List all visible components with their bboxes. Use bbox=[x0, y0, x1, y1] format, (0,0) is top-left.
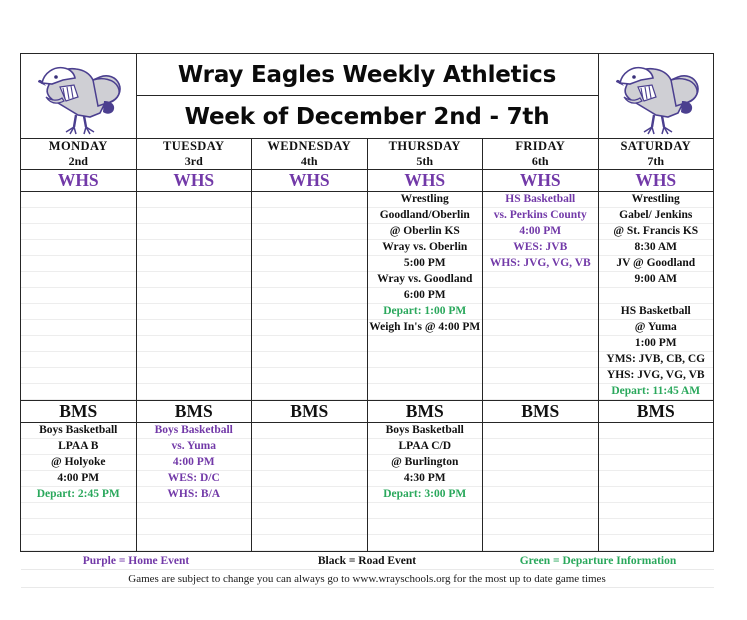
event-line: 8:30 AM bbox=[599, 240, 714, 256]
event-line: Depart: 2:45 PM bbox=[21, 487, 136, 503]
logo-cell-right bbox=[598, 54, 714, 139]
event-line: JV @ Goodland bbox=[599, 256, 714, 272]
empty-line bbox=[21, 208, 136, 224]
empty-line bbox=[599, 423, 714, 439]
empty-line bbox=[252, 368, 367, 384]
cell-whs-tuesday[interactable] bbox=[136, 192, 252, 401]
empty-line bbox=[21, 288, 136, 304]
event-line: Depart: 3:00 PM bbox=[368, 487, 483, 503]
day-header-wednesday: WEDNESDAY bbox=[252, 139, 368, 155]
empty-line bbox=[137, 519, 252, 535]
empty-line bbox=[483, 320, 598, 336]
empty-line bbox=[368, 336, 483, 352]
empty-line bbox=[137, 384, 252, 400]
day-date-thursday: 5th bbox=[367, 154, 483, 170]
empty-line bbox=[599, 519, 714, 535]
event-line: Wray vs. Goodland bbox=[368, 272, 483, 288]
page-title: Wray Eagles Weekly Athletics bbox=[136, 54, 598, 96]
empty-line bbox=[483, 535, 598, 551]
footnote-row: Games are subject to change you can alwa… bbox=[21, 570, 714, 588]
event-list bbox=[483, 423, 598, 551]
day-name-row: MONDAYTUESDAYWEDNESDAYTHURSDAYFRIDAYSATU… bbox=[21, 139, 714, 155]
athletics-schedule-sheet: Wray Eagles Weekly Athletics Week of Dec… bbox=[20, 53, 713, 588]
event-line: Boys Basketball bbox=[368, 423, 483, 439]
empty-line bbox=[483, 384, 598, 400]
empty-line bbox=[252, 471, 367, 487]
wray-eagle-logo-icon bbox=[608, 57, 704, 135]
event-line: 1:00 PM bbox=[599, 336, 714, 352]
empty-line bbox=[483, 272, 598, 288]
empty-line bbox=[483, 352, 598, 368]
empty-line bbox=[599, 535, 714, 551]
event-list: WrestlingGabel/ Jenkins@ St. Francis KS8… bbox=[599, 192, 714, 400]
empty-line bbox=[137, 272, 252, 288]
section-label-whs-friday: WHS bbox=[483, 170, 599, 192]
legend-item-purple: Purple = Home Event bbox=[21, 552, 252, 570]
page-subtitle: Week of December 2nd - 7th bbox=[136, 96, 598, 139]
empty-line bbox=[368, 352, 483, 368]
empty-line bbox=[137, 224, 252, 240]
event-line: WHS: B/A bbox=[137, 487, 252, 503]
section-label-bms-thursday: BMS bbox=[367, 401, 483, 423]
event-line: HS Basketball bbox=[483, 192, 598, 208]
legend-row: Purple = Home EventBlack = Road EventGre… bbox=[21, 552, 714, 570]
empty-line bbox=[21, 320, 136, 336]
empty-line bbox=[21, 503, 136, 519]
event-line: YHS: JVG, VG, VB bbox=[599, 368, 714, 384]
cell-whs-saturday[interactable]: WrestlingGabel/ Jenkins@ St. Francis KS8… bbox=[598, 192, 714, 401]
event-line: vs. Perkins County bbox=[483, 208, 598, 224]
section-label-bms-saturday: BMS bbox=[598, 401, 714, 423]
section-label-whs-tuesday: WHS bbox=[136, 170, 252, 192]
cell-bms-wednesday[interactable] bbox=[252, 423, 368, 552]
event-line: Depart: 11:45 AM bbox=[599, 384, 714, 400]
empty-line bbox=[483, 455, 598, 471]
empty-line bbox=[21, 240, 136, 256]
empty-line bbox=[137, 208, 252, 224]
event-list: Boys BasketballLPAA C/D@ Burlington4:30 … bbox=[368, 423, 483, 551]
section-label-bms-wednesday: BMS bbox=[252, 401, 368, 423]
event-line: Boys Basketball bbox=[137, 423, 252, 439]
event-line: Wrestling bbox=[599, 192, 714, 208]
empty-line bbox=[137, 240, 252, 256]
empty-line bbox=[137, 320, 252, 336]
empty-line bbox=[252, 304, 367, 320]
event-line: @ St. Francis KS bbox=[599, 224, 714, 240]
event-line: vs. Yuma bbox=[137, 439, 252, 455]
empty-line bbox=[368, 384, 483, 400]
event-line: @ Yuma bbox=[599, 320, 714, 336]
event-line: WHS: JVG, VG, VB bbox=[483, 256, 598, 272]
empty-line bbox=[252, 352, 367, 368]
cell-whs-thursday[interactable]: WrestlingGoodland/Oberlin@ Oberlin KSWra… bbox=[367, 192, 483, 401]
empty-line bbox=[252, 384, 367, 400]
day-date-monday: 2nd bbox=[21, 154, 137, 170]
empty-line bbox=[252, 423, 367, 439]
empty-line bbox=[137, 288, 252, 304]
cell-bms-tuesday[interactable]: Boys Basketballvs. Yuma4:00 PMWES: D/CWH… bbox=[136, 423, 252, 552]
event-list: WrestlingGoodland/Oberlin@ Oberlin KSWra… bbox=[368, 192, 483, 400]
empty-line bbox=[368, 503, 483, 519]
event-line: Boys Basketball bbox=[21, 423, 136, 439]
empty-line bbox=[252, 455, 367, 471]
event-line: Gabel/ Jenkins bbox=[599, 208, 714, 224]
empty-line bbox=[483, 487, 598, 503]
cell-bms-saturday[interactable] bbox=[598, 423, 714, 552]
day-header-monday: MONDAY bbox=[21, 139, 137, 155]
event-list bbox=[252, 192, 367, 400]
empty-line bbox=[21, 535, 136, 551]
empty-line bbox=[252, 272, 367, 288]
event-line: YMS: JVB, CB, CG bbox=[599, 352, 714, 368]
section-header-row-whs: WHSWHSWHSWHSWHSWHS bbox=[21, 170, 714, 192]
empty-line bbox=[483, 439, 598, 455]
empty-line bbox=[21, 519, 136, 535]
section-label-whs-thursday: WHS bbox=[367, 170, 483, 192]
day-date-tuesday: 3rd bbox=[136, 154, 252, 170]
event-line: Goodland/Oberlin bbox=[368, 208, 483, 224]
empty-line bbox=[252, 224, 367, 240]
empty-line bbox=[599, 487, 714, 503]
empty-line bbox=[252, 256, 367, 272]
empty-line bbox=[252, 535, 367, 551]
day-header-saturday: SATURDAY bbox=[598, 139, 714, 155]
empty-line bbox=[21, 384, 136, 400]
empty-line bbox=[483, 336, 598, 352]
empty-line bbox=[599, 503, 714, 519]
event-line: 4:00 PM bbox=[137, 455, 252, 471]
event-line: 4:00 PM bbox=[483, 224, 598, 240]
section-body-row-bms: Boys BasketballLPAA B@ Holyoke4:00 PMDep… bbox=[21, 423, 714, 552]
event-line: LPAA B bbox=[21, 439, 136, 455]
empty-line bbox=[137, 368, 252, 384]
empty-line bbox=[21, 304, 136, 320]
event-line: Wrestling bbox=[368, 192, 483, 208]
empty-line bbox=[368, 535, 483, 551]
event-line: @ Oberlin KS bbox=[368, 224, 483, 240]
empty-line bbox=[252, 288, 367, 304]
event-line: 5:00 PM bbox=[368, 256, 483, 272]
event-line: @ Holyoke bbox=[21, 455, 136, 471]
empty-line bbox=[21, 256, 136, 272]
empty-line bbox=[21, 352, 136, 368]
empty-line bbox=[137, 352, 252, 368]
day-date-saturday: 7th bbox=[598, 154, 714, 170]
schedule-page: Wray Eagles Weekly Athletics Week of Dec… bbox=[0, 0, 747, 620]
event-line: 4:00 PM bbox=[21, 471, 136, 487]
event-line: 6:00 PM bbox=[368, 288, 483, 304]
empty-line bbox=[137, 304, 252, 320]
footnote-text: Games are subject to change you can alwa… bbox=[21, 570, 714, 588]
empty-line bbox=[599, 471, 714, 487]
wray-eagle-logo-icon bbox=[30, 57, 126, 135]
empty-line bbox=[599, 288, 714, 304]
event-list bbox=[599, 423, 714, 551]
empty-line bbox=[137, 336, 252, 352]
section-label-bms-friday: BMS bbox=[483, 401, 599, 423]
empty-line bbox=[21, 272, 136, 288]
empty-line bbox=[483, 423, 598, 439]
empty-line bbox=[252, 503, 367, 519]
day-date-friday: 6th bbox=[483, 154, 599, 170]
empty-line bbox=[252, 487, 367, 503]
empty-line bbox=[368, 368, 483, 384]
cell-whs-friday[interactable]: HS Basketballvs. Perkins County4:00 PMWE… bbox=[483, 192, 599, 401]
empty-line bbox=[137, 535, 252, 551]
cell-bms-thursday[interactable]: Boys BasketballLPAA C/D@ Burlington4:30 … bbox=[367, 423, 483, 552]
legend-item-black: Black = Road Event bbox=[252, 552, 483, 570]
empty-line bbox=[252, 439, 367, 455]
section-label-whs-saturday: WHS bbox=[598, 170, 714, 192]
empty-line bbox=[483, 304, 598, 320]
header-row: Wray Eagles Weekly Athletics bbox=[21, 54, 714, 96]
empty-line bbox=[21, 192, 136, 208]
day-header-friday: FRIDAY bbox=[483, 139, 599, 155]
empty-line bbox=[483, 288, 598, 304]
event-list: Boys Basketballvs. Yuma4:00 PMWES: D/CWH… bbox=[137, 423, 252, 551]
empty-line bbox=[368, 519, 483, 535]
empty-line bbox=[483, 503, 598, 519]
section-label-whs-monday: WHS bbox=[21, 170, 137, 192]
section-header-row-bms: BMSBMSBMSBMSBMSBMS bbox=[21, 401, 714, 423]
empty-line bbox=[599, 455, 714, 471]
event-list bbox=[137, 192, 252, 400]
event-line: Depart: 1:00 PM bbox=[368, 304, 483, 320]
empty-line bbox=[21, 368, 136, 384]
empty-line bbox=[252, 192, 367, 208]
cell-whs-wednesday[interactable] bbox=[252, 192, 368, 401]
cell-bms-friday[interactable] bbox=[483, 423, 599, 552]
cell-bms-monday[interactable]: Boys BasketballLPAA B@ Holyoke4:00 PMDep… bbox=[21, 423, 137, 552]
empty-line bbox=[252, 208, 367, 224]
day-header-tuesday: TUESDAY bbox=[136, 139, 252, 155]
day-header-thursday: THURSDAY bbox=[367, 139, 483, 155]
empty-line bbox=[483, 471, 598, 487]
empty-line bbox=[252, 519, 367, 535]
empty-line bbox=[483, 519, 598, 535]
empty-line bbox=[21, 224, 136, 240]
event-list: HS Basketballvs. Perkins County4:00 PMWE… bbox=[483, 192, 598, 400]
cell-whs-monday[interactable] bbox=[21, 192, 137, 401]
event-list bbox=[252, 423, 367, 551]
day-date-wednesday: 4th bbox=[252, 154, 368, 170]
empty-line bbox=[252, 240, 367, 256]
event-line: Weigh In's @ 4:00 PM bbox=[368, 320, 483, 336]
section-label-whs-wednesday: WHS bbox=[252, 170, 368, 192]
empty-line bbox=[483, 368, 598, 384]
empty-line bbox=[21, 336, 136, 352]
event-line: @ Burlington bbox=[368, 455, 483, 471]
empty-line bbox=[137, 192, 252, 208]
event-list: Boys BasketballLPAA B@ Holyoke4:00 PMDep… bbox=[21, 423, 136, 551]
empty-line bbox=[137, 503, 252, 519]
empty-line bbox=[252, 320, 367, 336]
event-line: WES: JVB bbox=[483, 240, 598, 256]
event-line: Wray vs. Oberlin bbox=[368, 240, 483, 256]
section-label-bms-monday: BMS bbox=[21, 401, 137, 423]
day-date-row: 2nd3rd4th5th6th7th bbox=[21, 154, 714, 170]
event-line: HS Basketball bbox=[599, 304, 714, 320]
event-line: 4:30 PM bbox=[368, 471, 483, 487]
empty-line bbox=[599, 439, 714, 455]
event-line: LPAA C/D bbox=[368, 439, 483, 455]
event-line: WES: D/C bbox=[137, 471, 252, 487]
event-line: 9:00 AM bbox=[599, 272, 714, 288]
event-list bbox=[21, 192, 136, 400]
empty-line bbox=[137, 256, 252, 272]
empty-line bbox=[252, 336, 367, 352]
weekly-schedule-table: Wray Eagles Weekly Athletics Week of Dec… bbox=[20, 53, 714, 588]
section-body-row-whs: WrestlingGoodland/Oberlin@ Oberlin KSWra… bbox=[21, 192, 714, 401]
section-label-bms-tuesday: BMS bbox=[136, 401, 252, 423]
legend-item-green: Green = Departure Information bbox=[483, 552, 714, 570]
logo-cell-left bbox=[21, 54, 137, 139]
